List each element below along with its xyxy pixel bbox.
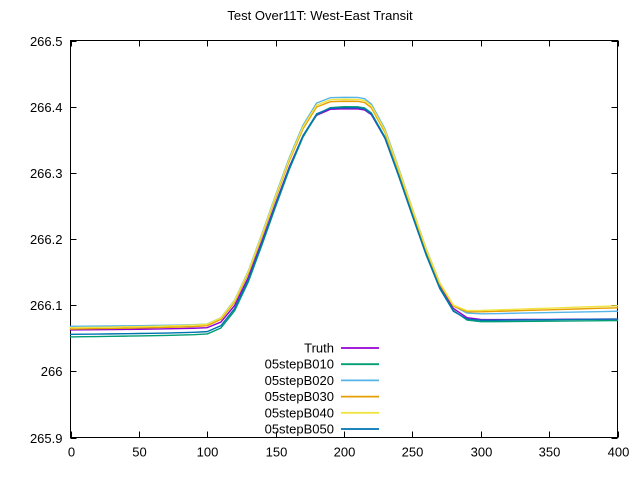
- legend-label-05stepb010: 05stepB010: [265, 357, 334, 372]
- series-line-05stepb040: [71, 99, 618, 327]
- y-axis-tick-labels: 265.9266266.1266.2266.3266.4266.5: [30, 34, 63, 446]
- legend-label-05stepb020: 05stepB020: [265, 373, 334, 388]
- x-tick-label: 350: [539, 445, 561, 460]
- y-tick-label: 265.9: [30, 431, 63, 446]
- chart-legend: Truth05stepB01005stepB02005stepB03005ste…: [265, 341, 379, 437]
- x-tick-label: 100: [197, 445, 219, 460]
- line-chart: 265.9266266.1266.2266.3266.4266.5 050100…: [0, 0, 640, 480]
- legend-label-truth: Truth: [304, 341, 334, 356]
- chart-container: Test Over11T: West-East Transit 265.9266…: [0, 0, 640, 480]
- series-line-05stepb030: [71, 101, 618, 329]
- x-axis-tick-labels: 050100150200250300350400: [68, 445, 629, 460]
- legend-label-05stepb050: 05stepB050: [265, 422, 334, 437]
- series-line-05stepb050: [71, 108, 618, 335]
- y-tick-label: 266.1: [30, 298, 63, 313]
- y-tick-label: 266: [41, 364, 63, 379]
- y-tick-label: 266.2: [30, 232, 63, 247]
- y-tick-label: 266.3: [30, 166, 63, 181]
- x-tick-label: 50: [132, 445, 146, 460]
- x-tick-label: 400: [608, 445, 630, 460]
- legend-label-05stepb030: 05stepB030: [265, 389, 334, 404]
- series-line-truth: [71, 109, 618, 330]
- axis-tick-marks: [71, 41, 619, 439]
- series-line-05stepb020: [71, 97, 618, 326]
- x-tick-label: 300: [471, 445, 493, 460]
- x-tick-label: 250: [402, 445, 424, 460]
- x-tick-label: 150: [266, 445, 288, 460]
- x-tick-label: 200: [334, 445, 356, 460]
- series-line-05stepb010: [71, 107, 618, 337]
- x-tick-label: 0: [68, 445, 75, 460]
- y-tick-label: 266.5: [30, 34, 63, 49]
- legend-label-05stepb040: 05stepB040: [265, 405, 334, 420]
- plot-frame: [71, 41, 618, 438]
- y-tick-label: 266.4: [30, 100, 63, 115]
- series-lines: [71, 97, 618, 337]
